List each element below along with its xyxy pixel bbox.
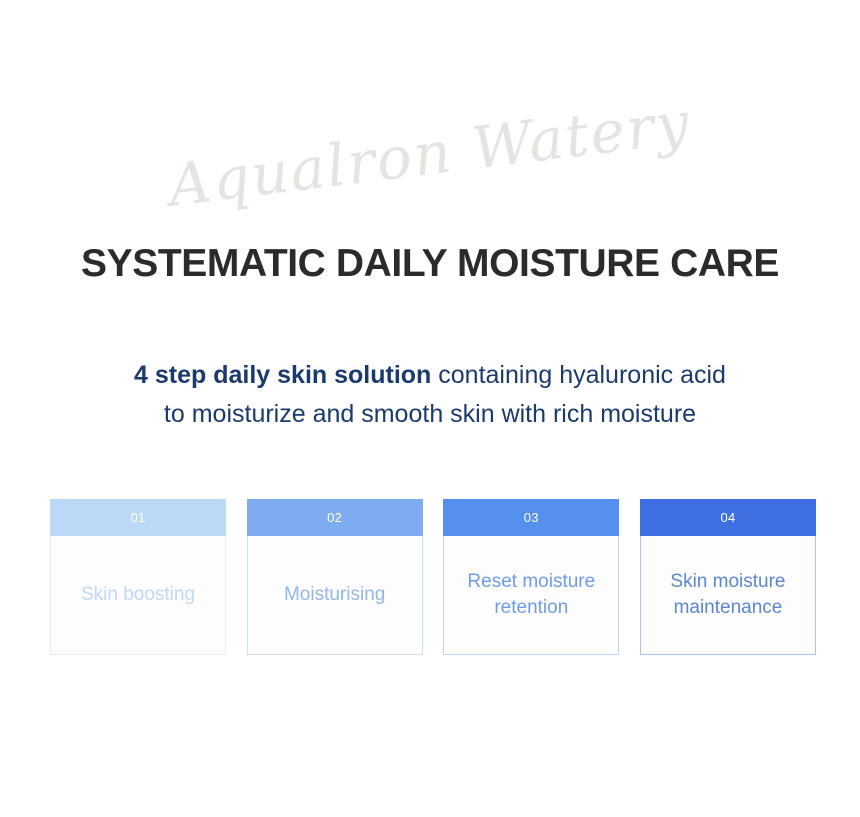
subtitle-highlight: 4 step daily skin solution (134, 361, 431, 389)
step-label-01: Skin boosting (50, 536, 226, 655)
step-card-list: 01 Skin boosting 02 Moisturising 03 Rese… (50, 499, 816, 655)
step-number-badge-04: 04 (640, 499, 816, 536)
step-number-badge-01: 01 (50, 499, 226, 536)
step-label-04: Skin moisture maintenance (640, 536, 816, 655)
promo-page: Aqualron Watery SYSTEMATIC DAILY MOISTUR… (0, 0, 860, 817)
step-card-02[interactable]: 02 Moisturising (247, 499, 423, 655)
subtitle-line-1-rest: containing hyaluronic acid (431, 361, 726, 389)
subtitle-line-2: to moisturize and smooth skin with rich … (0, 395, 860, 434)
step-card-01[interactable]: 01 Skin boosting (50, 499, 226, 655)
step-label-03: Reset moisture retention (443, 536, 619, 655)
subtitle: 4 step daily skin solution containing hy… (0, 356, 860, 434)
step-number-badge-03: 03 (443, 499, 619, 536)
brand-script-watermark: Aqualron Watery (0, 120, 860, 188)
step-card-04[interactable]: 04 Skin moisture maintenance (640, 499, 816, 655)
step-label-02: Moisturising (247, 536, 423, 655)
subtitle-line-1: 4 step daily skin solution containing hy… (0, 356, 860, 395)
page-title: SYSTEMATIC DAILY MOISTURE CARE (0, 242, 860, 286)
brand-script-text: Aqualron Watery (165, 88, 695, 220)
step-card-03[interactable]: 03 Reset moisture retention (443, 499, 619, 655)
step-number-badge-02: 02 (247, 499, 423, 536)
